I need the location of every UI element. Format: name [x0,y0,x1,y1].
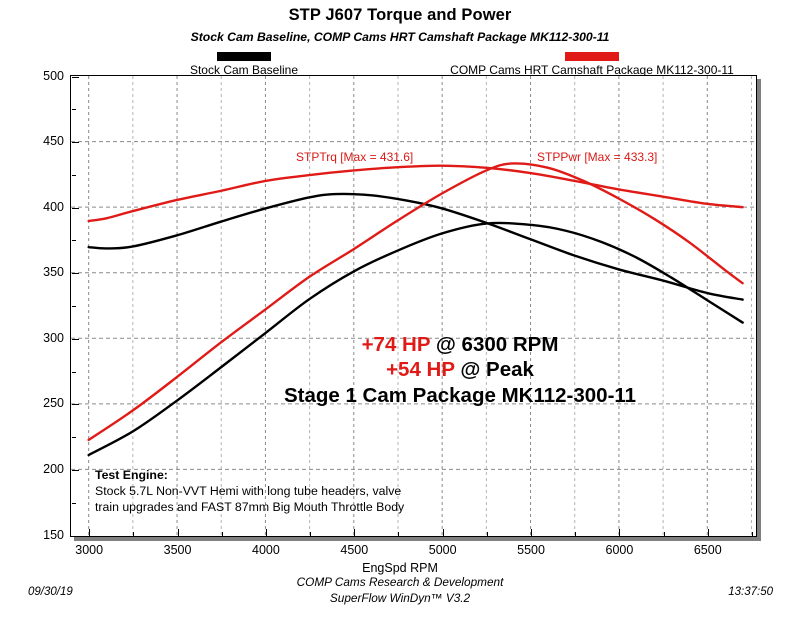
y-tick-label: 250 [22,396,64,410]
page-subtitle: Stock Cam Baseline, COMP Cams HRT Camsha… [0,30,800,44]
x-tick-label: 5000 [413,543,473,557]
test-engine-notes: Test Engine: Stock 5.7L Non-VVT Hemi wit… [95,468,495,515]
x-tick-mark [443,529,444,536]
x-tick-mark-minor [133,532,134,536]
x-tick-mark-minor [752,532,753,536]
y-tick-mark-minor [72,175,76,176]
callout-peak-text: @ Peak [455,358,534,381]
legend-entry-stock: Stock Cam Baseline [119,52,369,77]
grid-layer [71,76,755,535]
x-tick-mark [178,529,179,536]
x-tick-label: 3000 [59,543,119,557]
y-tick-label: 150 [22,528,64,542]
gain-callout: +74 HP @ 6300 RPM +54 HP @ Peak Stage 1 … [200,332,720,408]
y-tick-label: 400 [22,200,64,214]
footer-center: COMP Cams Research & Development SuperFl… [0,575,800,606]
y-tick-mark-minor [72,240,76,241]
x-tick-label: 6000 [589,543,649,557]
y-tick-mark-minor [72,372,76,373]
legend-swatch-black-icon [217,52,271,61]
callout-line-1: +74 HP @ 6300 RPM [200,332,720,357]
footer-time: 13:37:50 [728,586,773,598]
y-tick-mark [72,470,79,471]
x-axis-title: EngSpd RPM [0,561,800,575]
callout-line-3: Stage 1 Cam Package MK112-300-11 [200,383,720,408]
legend-swatch-red-icon [565,52,619,61]
y-tick-mark [72,142,79,143]
x-tick-mark [531,529,532,536]
callout-hp-gain-rpm: +74 HP [362,333,431,356]
y-tick-label: 200 [22,462,64,476]
page-title: STP J607 Torque and Power [0,6,800,25]
y-tick-label: 450 [22,134,64,148]
legend-entry-comp: COMP Cams HRT Camshaft Package MK112-300… [424,52,760,77]
x-tick-label: 6500 [678,543,738,557]
x-tick-label: 4500 [324,543,384,557]
x-tick-mark-minor [222,532,223,536]
x-tick-mark [266,529,267,536]
callout-line-2: +54 HP @ Peak [200,357,720,382]
y-tick-mark [72,208,79,209]
y-tick-mark [72,536,79,537]
callout-hp-gain-peak: +54 HP [386,358,455,381]
y-tick-mark [72,273,79,274]
y-tick-mark [72,77,79,78]
series-tag-torque: STPTrq [Max = 431.6] [296,150,413,164]
y-tick-mark-minor [72,306,76,307]
x-tick-mark-minor [398,532,399,536]
x-tick-label: 5500 [501,543,561,557]
x-tick-mark-minor [575,532,576,536]
x-tick-mark-minor [487,532,488,536]
y-tick-mark [72,404,79,405]
x-tick-mark [619,529,620,536]
footer-org: COMP Cams Research & Development [0,575,800,591]
y-tick-mark [72,339,79,340]
x-tick-label: 4000 [236,543,296,557]
y-tick-label: 500 [22,69,64,83]
x-tick-mark-minor [664,532,665,536]
notes-line-1: Stock 5.7L Non-VVT Hemi with long tube h… [95,483,495,499]
series-tag-power: STPPwr [Max = 433.3] [537,150,657,164]
x-tick-mark [89,529,90,536]
x-tick-mark [354,529,355,536]
y-tick-label: 300 [22,331,64,345]
x-tick-mark [708,529,709,536]
notes-line-2: train upgrades and FAST 87mm Big Mouth T… [95,499,495,515]
x-tick-mark-minor [310,532,311,536]
footer-software: SuperFlow WinDyn™ V3.2 [0,591,800,607]
notes-heading: Test Engine: [95,468,495,482]
dyno-chart-page: STP J607 Torque and Power Stock Cam Base… [0,0,800,618]
y-tick-mark-minor [72,437,76,438]
callout-rpm-text: @ 6300 RPM [430,333,558,356]
y-tick-mark-minor [72,503,76,504]
x-tick-label: 3500 [148,543,208,557]
plot-canvas [71,76,755,535]
y-tick-label: 350 [22,265,64,279]
y-tick-mark-minor [72,109,76,110]
